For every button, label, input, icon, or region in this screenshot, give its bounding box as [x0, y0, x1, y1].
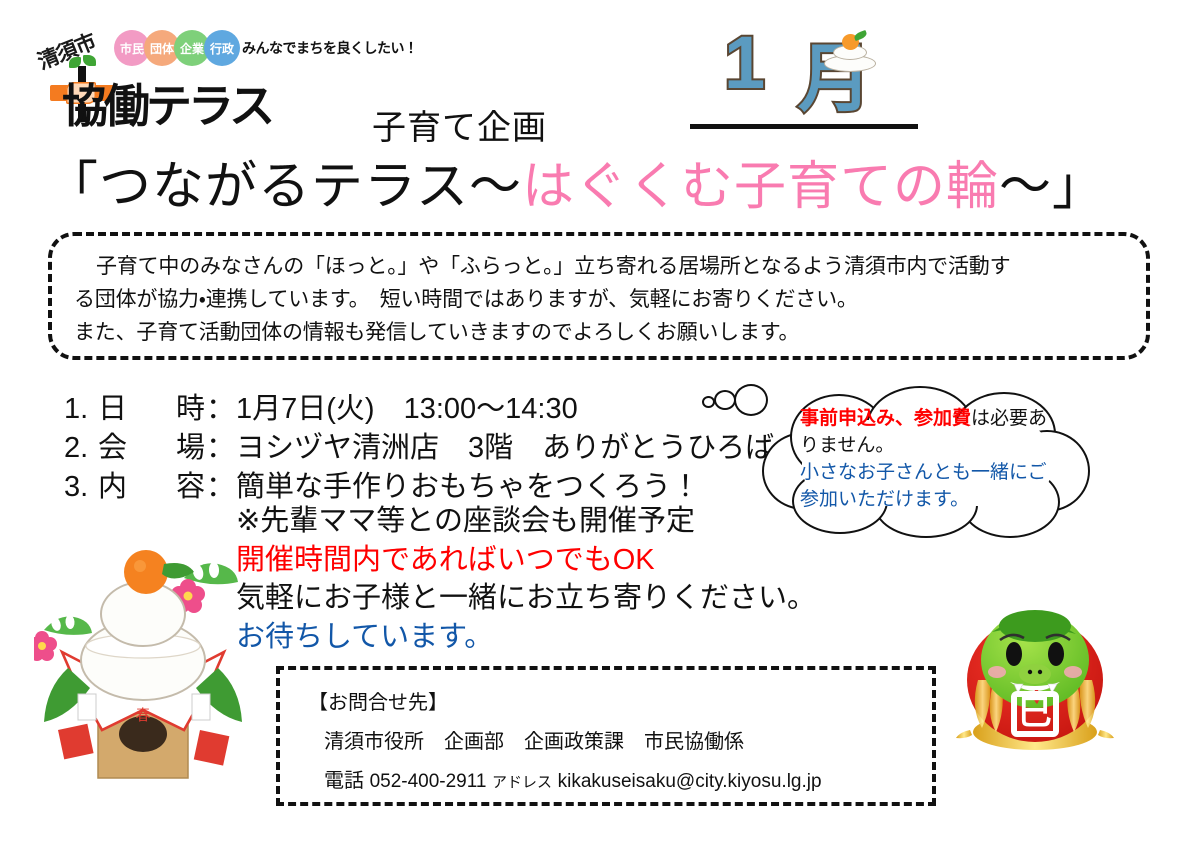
detail-colon-1: ：: [206, 390, 236, 429]
bubble-tail-small: [702, 396, 715, 408]
poster-canvas: 清須市 市民 団体 企業 行政 みんなでまちを良くしたい！ 協働テラス 子育て企…: [0, 0, 1200, 846]
snake-eye-left: [1006, 642, 1022, 666]
detail-colon-3: ：: [206, 468, 236, 507]
bubble-text-blue: 小さなお子さんとも一緒にご参加いただけます。: [800, 462, 1047, 510]
kagami-mochi-illustration: 迎 春: [34, 534, 264, 784]
contact-phone-label: 電話: [324, 770, 364, 792]
kagami-mochi-icon: [822, 30, 878, 72]
detail-value-2: ヨシヅヤ清洲店 3階 ありがとうひろば: [236, 432, 774, 464]
detail-number-2: 2.: [64, 429, 98, 468]
kiyosu-kyodo-terrace-logo: 清須市 市民 団体 企業 行政 みんなでまちを良くしたい！ 協働テラス: [42, 28, 392, 140]
page-title: 「つながるテラス〜はぐくむ子育ての輪〜」: [46, 144, 1105, 219]
contact-box: 【お問合せ先】 清須市役所 企画部 企画政策課 市民協働係 電話 052-400…: [276, 666, 936, 806]
detail-row-content: 3.内 容：簡単な手作りおもちゃをつくろう！: [64, 468, 774, 507]
red-paper-left: [58, 724, 94, 760]
red-paper-right: [194, 730, 230, 766]
role-circle-dantai-label: 団体: [150, 40, 174, 57]
page-title-close: 〜」: [999, 158, 1105, 216]
snake-cheek-right: [1064, 666, 1082, 678]
contact-address-label: アドレス: [492, 774, 552, 791]
month-underline: [690, 124, 918, 129]
role-circle-kigyo-label: 企業: [180, 40, 204, 57]
white-paper-left: [78, 694, 96, 720]
description-line-3: また、子育て活動団体の情報も発信していきますのでよろしくお願いします。: [74, 316, 1124, 349]
detail-value-1: 1月7日(火) 13:00〜14:30: [236, 393, 578, 425]
description-line-2: る団体が協力・連携しています。 短い時間ではありますが、気軽にお寄りください。: [74, 283, 1124, 316]
description-line-1: 子育て中のみなさんの「ほっと。」や「ふらっと。」立ち寄れる居場所となるよう清須市…: [74, 250, 1124, 283]
detail-number-1: 1.: [64, 390, 98, 429]
sub-heading: 子育て企画: [372, 100, 547, 149]
bubble-text-red: 事前申込み、参加費: [800, 408, 971, 429]
snake-cheek-left: [988, 666, 1006, 678]
snake-eye-right: [1048, 642, 1064, 666]
page-title-open: 「つながるテラス〜: [46, 158, 522, 216]
detail-label-3: 内 容: [98, 468, 206, 507]
role-circle-gyosei: 行政: [204, 30, 240, 66]
daruma-belly-text: 巳: [1018, 694, 1052, 732]
city-name-label: 清須市: [33, 26, 100, 76]
svg-text:春: 春: [135, 707, 150, 724]
role-circle-group: 市民 団体 企業 行政: [114, 30, 234, 66]
plum-flower-left: [34, 631, 57, 661]
daruma-tail-right: [1098, 730, 1114, 738]
bubble-text: 事前申込み、参加費は必要ありません。 小さなお子さんとも一緒にご参加いただけます…: [800, 406, 1050, 514]
note-line-drop-by: 気軽にお子様と一緒にお立ち寄りください。: [236, 579, 816, 618]
event-details-list: 1.日 時：1月7日(火) 13:00〜14:30 2.会 場：ヨシヅヤ清洲店 …: [64, 390, 774, 507]
role-circle-shimin-label: 市民: [120, 40, 144, 57]
white-paper-right: [192, 694, 210, 720]
description-box: 子育て中のみなさんの「ほっと。」や「ふらっと。」立ち寄れる居場所となるよう清須市…: [48, 232, 1150, 360]
mikan-leaf-icon: [853, 30, 868, 41]
detail-label-2: 会 場: [98, 429, 206, 468]
detail-label-1: 日 時: [98, 390, 206, 429]
contact-organization: 清須市役所 企画部 企画政策課 市民協働係: [308, 723, 932, 762]
logo-wordmark: 協働テラス: [62, 70, 271, 136]
detail-value-3: 簡単な手作りおもちゃをつくろう！: [236, 471, 700, 503]
detail-row-datetime: 1.日 時：1月7日(火) 13:00〜14:30: [64, 390, 774, 429]
daruma-tail-left: [956, 730, 972, 738]
note-line-waiting: お待ちしています。: [236, 618, 816, 657]
contact-heading: 【お問合せ先】: [308, 684, 932, 723]
contact-email[interactable]: kikakuseisaku@city.kiyosu.lg.jp: [558, 771, 822, 792]
mikan-icon: [124, 550, 168, 594]
snake-snout: [1019, 664, 1051, 684]
contact-phone-number: 052-400-2911: [370, 771, 487, 792]
snake-daruma-illustration: 巳: [952, 602, 1118, 762]
month-badge: 1 月: [718, 24, 908, 124]
detail-number-3: 3.: [64, 468, 98, 507]
detail-colon-2: ：: [206, 429, 236, 468]
contact-phone-row: 電話 052-400-2911 アドレス kikakuseisaku@city.…: [308, 762, 932, 801]
page-title-highlight: はぐくむ子育ての輪: [522, 158, 999, 216]
month-number: 1: [724, 26, 765, 100]
thought-bubble: 事前申込み、参加費は必要ありません。 小さなお子さんとも一緒にご参加いただけます…: [700, 368, 1100, 548]
role-circle-gyosei-label: 行政: [210, 40, 234, 57]
logo-tagline: みんなでまちを良くしたい！: [242, 38, 418, 58]
detail-row-venue: 2.会 場：ヨシヅヤ清洲店 3階 ありがとうひろば: [64, 429, 774, 468]
bubble-tail-mid: [714, 390, 736, 410]
